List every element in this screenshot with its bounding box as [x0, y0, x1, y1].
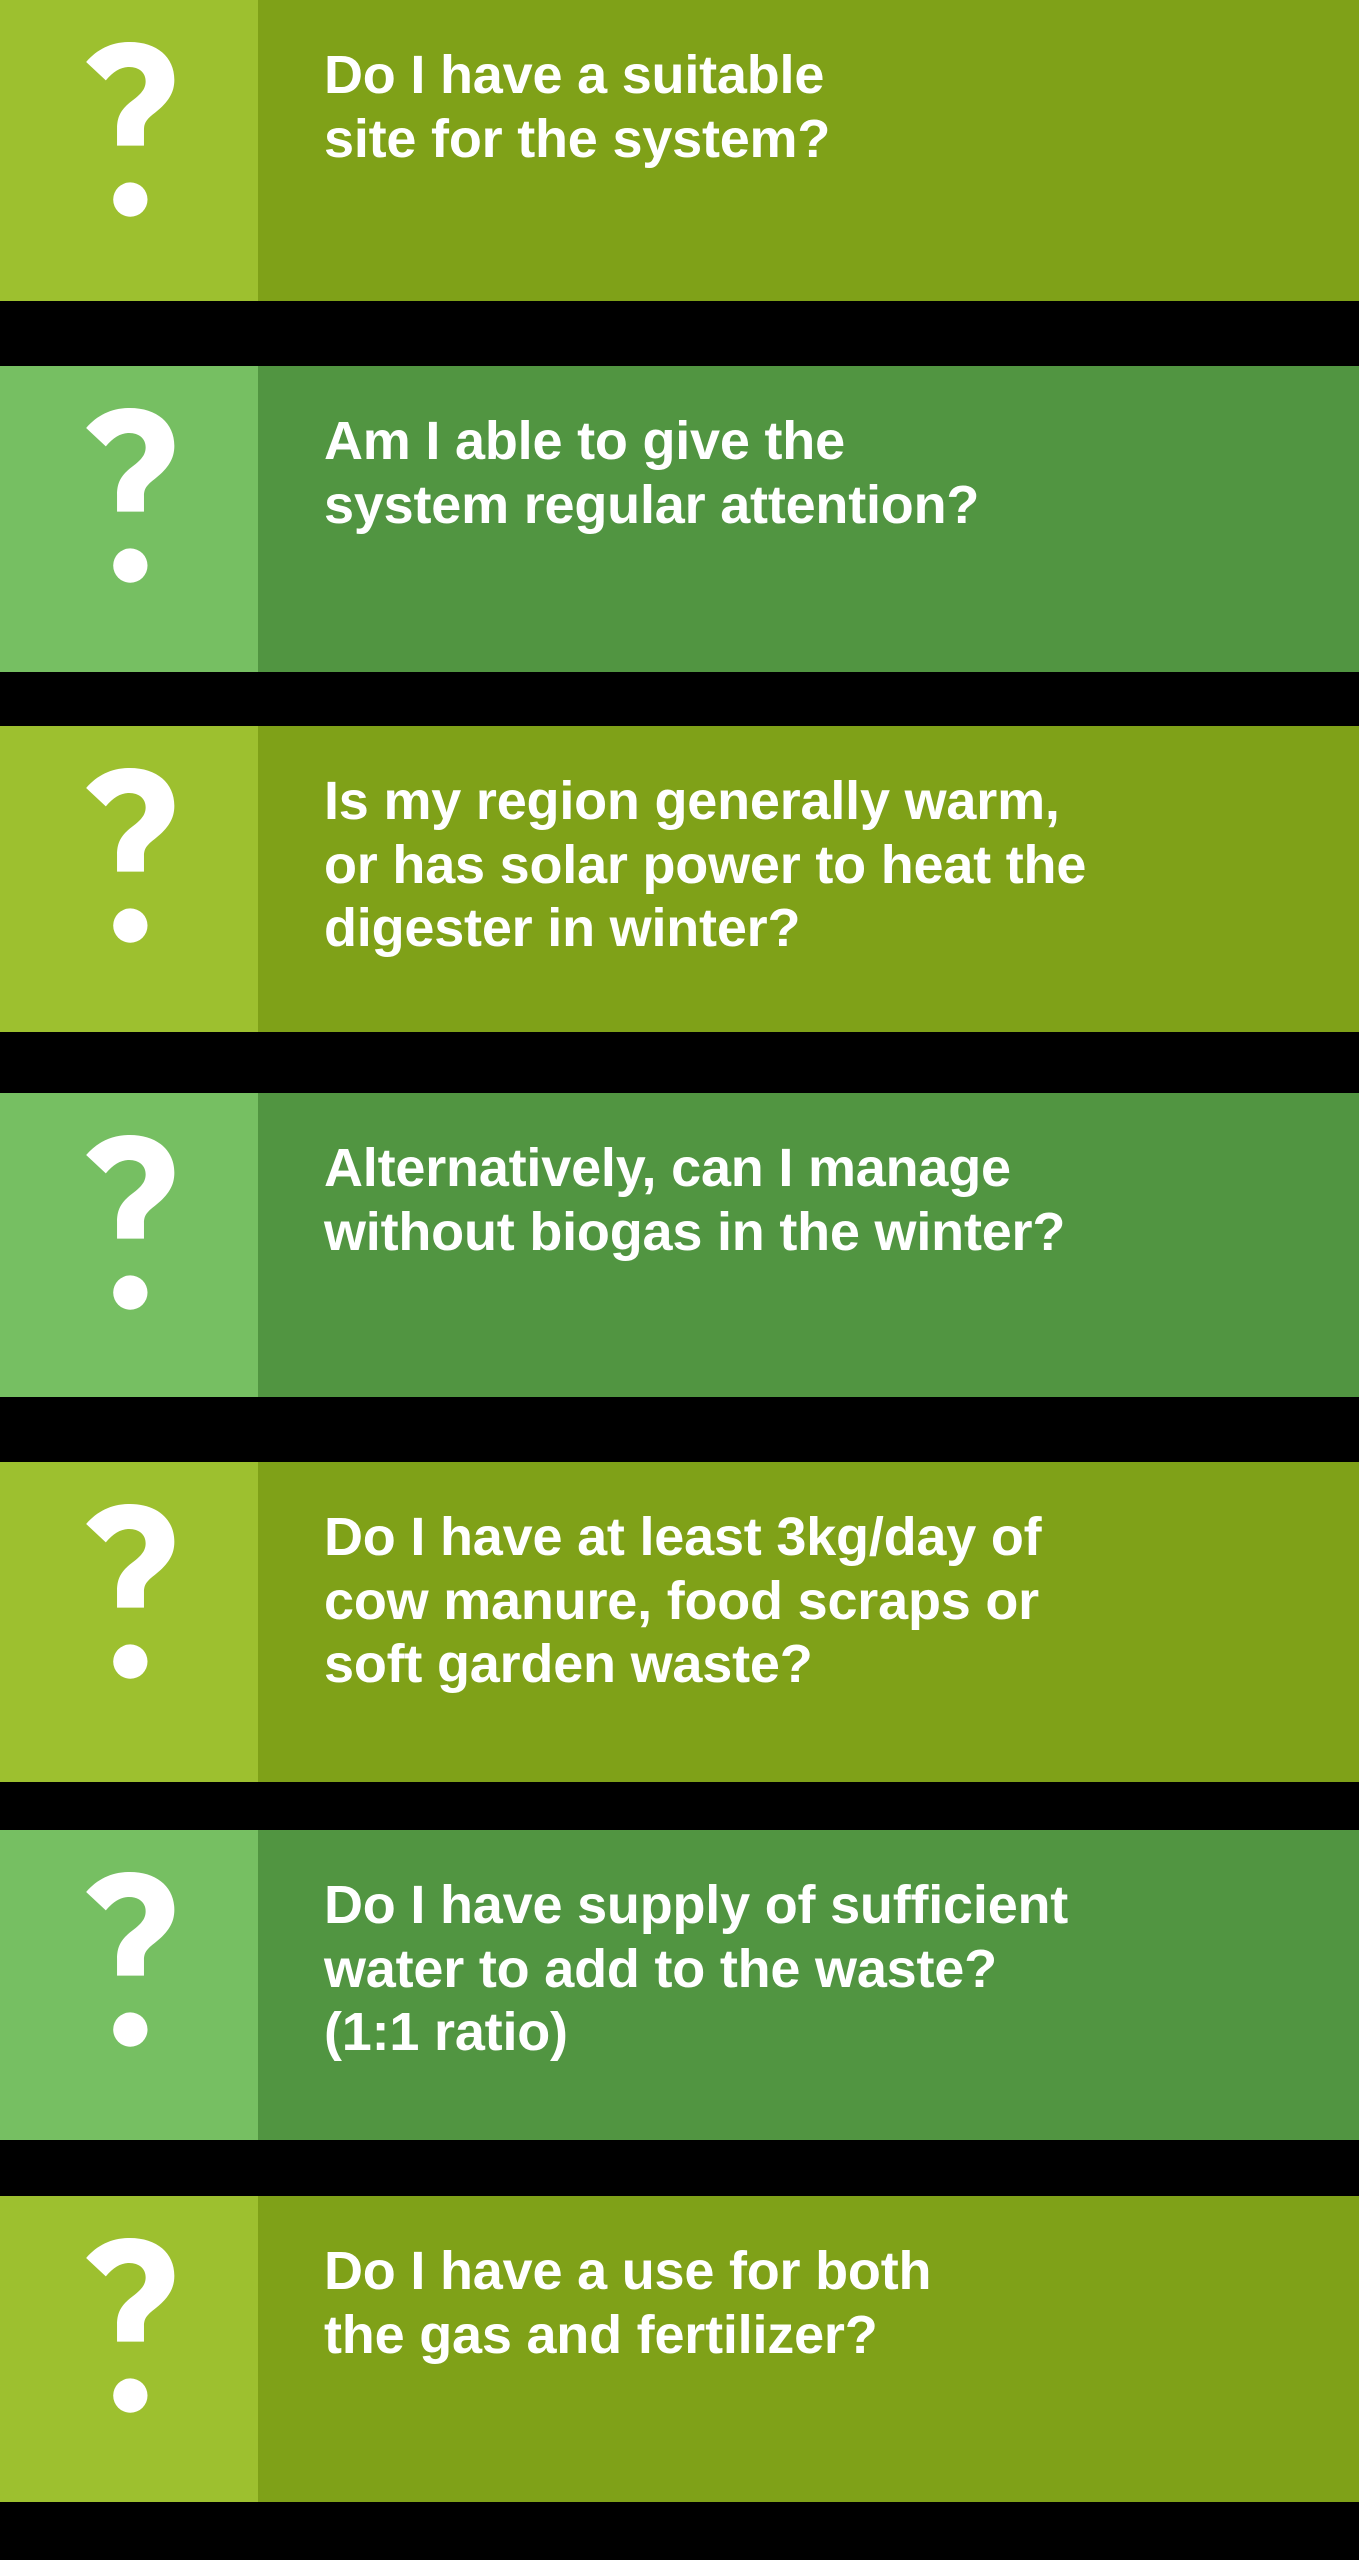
question-text-line: or has solar power to heat the: [324, 834, 1331, 898]
question-text-line: cow manure, food scraps or: [324, 1570, 1331, 1634]
question-text-line: Am I able to give the: [324, 410, 1331, 474]
question-row: Do I have at least 3kg/day ofcow manure,…: [0, 1462, 1359, 1782]
question-text-panel: Do I have at least 3kg/day ofcow manure,…: [258, 1462, 1359, 1782]
question-mark-icon: [0, 768, 258, 943]
question-text-panel: Do I have supply of sufficientwater to a…: [258, 1830, 1359, 2140]
question-mark-icon: [0, 42, 258, 217]
question-text-panel: Do I have a use for boththe gas and fert…: [258, 2196, 1359, 2502]
question-icon-panel: [0, 1462, 258, 1782]
question-icon-panel: [0, 1830, 258, 2140]
question-text-panel: Alternatively, can I managewithout bioga…: [258, 1093, 1359, 1397]
question-text-line: Is my region generally warm,: [324, 770, 1331, 834]
question-text-line: water to add to the waste?: [324, 1938, 1331, 2002]
question-icon-panel: [0, 0, 258, 301]
question-row: Alternatively, can I managewithout bioga…: [0, 1093, 1359, 1397]
question-text: Am I able to give thesystem regular atte…: [324, 410, 1331, 537]
question-row: Is my region generally warm,or has solar…: [0, 726, 1359, 1032]
question-mark-icon: [0, 408, 258, 583]
question-mark-icon: [0, 1872, 258, 2047]
question-text-line: Do I have at least 3kg/day of: [324, 1506, 1331, 1570]
question-text: Do I have a suitablesite for the system?: [324, 44, 1331, 171]
question-icon-panel: [0, 366, 258, 672]
question-text-line: Do I have supply of sufficient: [324, 1874, 1331, 1938]
question-text-panel: Is my region generally warm,or has solar…: [258, 726, 1359, 1032]
question-text-line: (1:1 ratio): [324, 2001, 1331, 2065]
question-text-line: system regular attention?: [324, 474, 1331, 538]
question-text: Do I have a use for boththe gas and fert…: [324, 2240, 1331, 2367]
question-mark-icon: [0, 2238, 258, 2413]
question-icon-panel: [0, 1093, 258, 1397]
question-icon-panel: [0, 726, 258, 1032]
question-text-line: Do I have a use for both: [324, 2240, 1331, 2304]
question-text: Do I have at least 3kg/day ofcow manure,…: [324, 1506, 1331, 1697]
question-text-line: the gas and fertilizer?: [324, 2304, 1331, 2368]
question-text-line: Alternatively, can I manage: [324, 1137, 1331, 1201]
question-text-line: site for the system?: [324, 108, 1331, 172]
question-row: Do I have a use for boththe gas and fert…: [0, 2196, 1359, 2502]
question-mark-icon: [0, 1504, 258, 1679]
question-row: Do I have supply of sufficientwater to a…: [0, 1830, 1359, 2140]
question-text-line: Do I have a suitable: [324, 44, 1331, 108]
question-text: Do I have supply of sufficientwater to a…: [324, 1874, 1331, 2065]
question-text-line: digester in winter?: [324, 897, 1331, 961]
question-text: Is my region generally warm,or has solar…: [324, 770, 1331, 961]
question-text-line: soft garden waste?: [324, 1633, 1331, 1697]
question-text-panel: Am I able to give thesystem regular atte…: [258, 366, 1359, 672]
question-icon-panel: [0, 2196, 258, 2502]
question-text-panel: Do I have a suitablesite for the system?: [258, 0, 1359, 301]
question-row: Am I able to give thesystem regular atte…: [0, 366, 1359, 672]
question-row: Do I have a suitablesite for the system?: [0, 0, 1359, 301]
question-text: Alternatively, can I managewithout bioga…: [324, 1137, 1331, 1264]
checklist-poster: Do I have a suitablesite for the system?…: [0, 0, 1359, 2560]
question-text-line: without biogas in the winter?: [324, 1201, 1331, 1265]
question-mark-icon: [0, 1135, 258, 1310]
